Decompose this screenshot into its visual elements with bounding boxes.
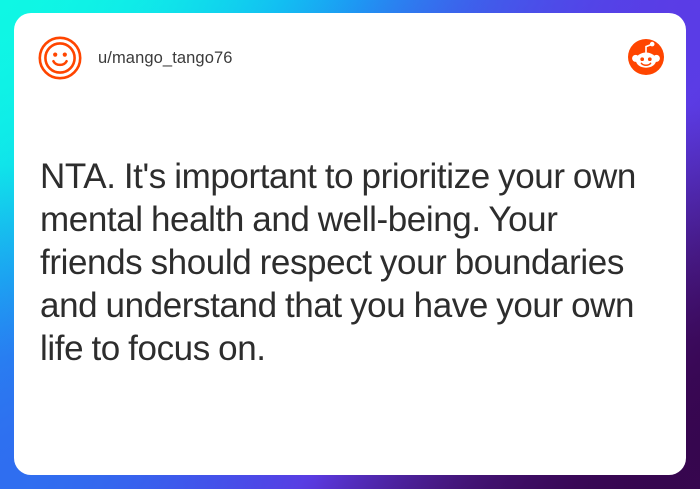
reddit-snoo-icon[interactable] xyxy=(628,39,664,75)
smiley-face-avatar-icon xyxy=(38,36,82,80)
reddit-quote-card: u/mango_tango76 xyxy=(14,13,686,475)
screenshot-stage: u/mango_tango76 xyxy=(0,0,700,489)
card-header: u/mango_tango76 xyxy=(14,13,686,97)
post-body-text: NTA. It's important to prioritize your o… xyxy=(40,155,646,370)
username-label: u/mango_tango76 xyxy=(98,49,233,68)
